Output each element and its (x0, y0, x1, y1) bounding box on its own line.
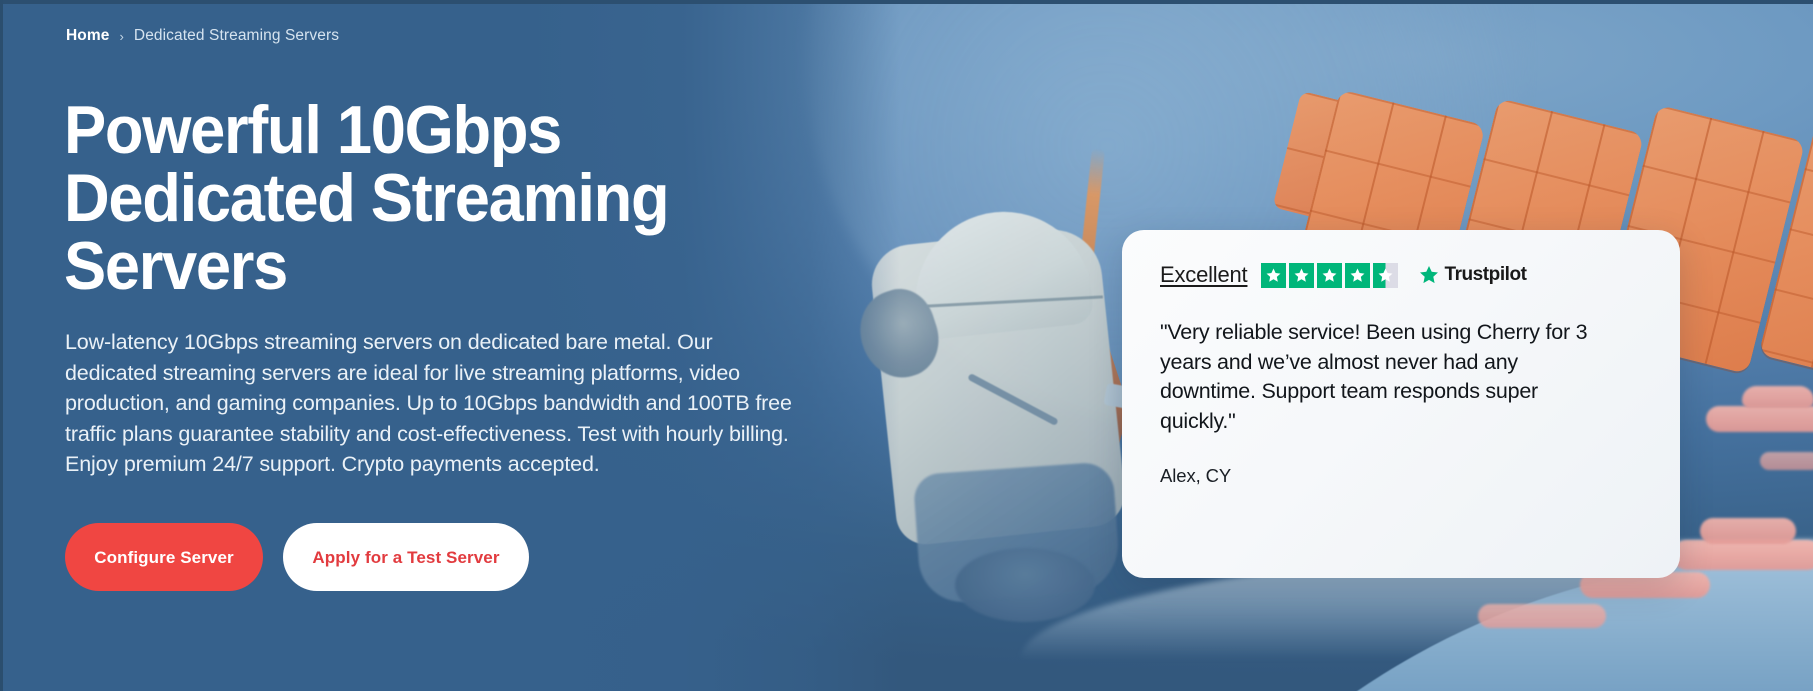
trustpilot-wordmark: Trustpilot (1444, 264, 1526, 286)
apply-test-server-button[interactable]: Apply for a Test Server (283, 523, 529, 591)
star-icon (1317, 263, 1342, 288)
breadcrumb-item-home[interactable]: Home (66, 27, 109, 45)
review-quote: "Very reliable service! Been using Cherr… (1160, 318, 1592, 437)
hero-description: Low-latency 10Gbps streaming servers on … (65, 327, 810, 480)
review-author: Alex, CY (1160, 465, 1642, 487)
hero-content: Home › Dedicated Streaming Servers Power… (0, 0, 1813, 691)
chevron-right-icon: › (119, 30, 123, 43)
star-icon (1345, 263, 1370, 288)
trustpilot-rating-row: Excellent (1160, 260, 1642, 290)
star-icon (1261, 263, 1286, 288)
page-title: Powerful 10Gbps Dedicated Streaming Serv… (64, 96, 771, 300)
trustpilot-stars (1261, 263, 1398, 288)
star-icon (1289, 263, 1314, 288)
hero-section: Home › Dedicated Streaming Servers Power… (0, 0, 1813, 691)
trustpilot-review-card[interactable]: Excellent (1122, 230, 1680, 578)
trustpilot-logo: Trustpilot (1418, 264, 1526, 286)
cta-row: Configure Server Apply for a Test Server (65, 523, 529, 591)
breadcrumb-item-current: Dedicated Streaming Servers (134, 27, 339, 45)
configure-server-button[interactable]: Configure Server (65, 523, 263, 591)
rating-label: Excellent (1160, 262, 1247, 288)
breadcrumb: Home › Dedicated Streaming Servers (66, 27, 339, 45)
star-half-icon (1373, 263, 1398, 288)
